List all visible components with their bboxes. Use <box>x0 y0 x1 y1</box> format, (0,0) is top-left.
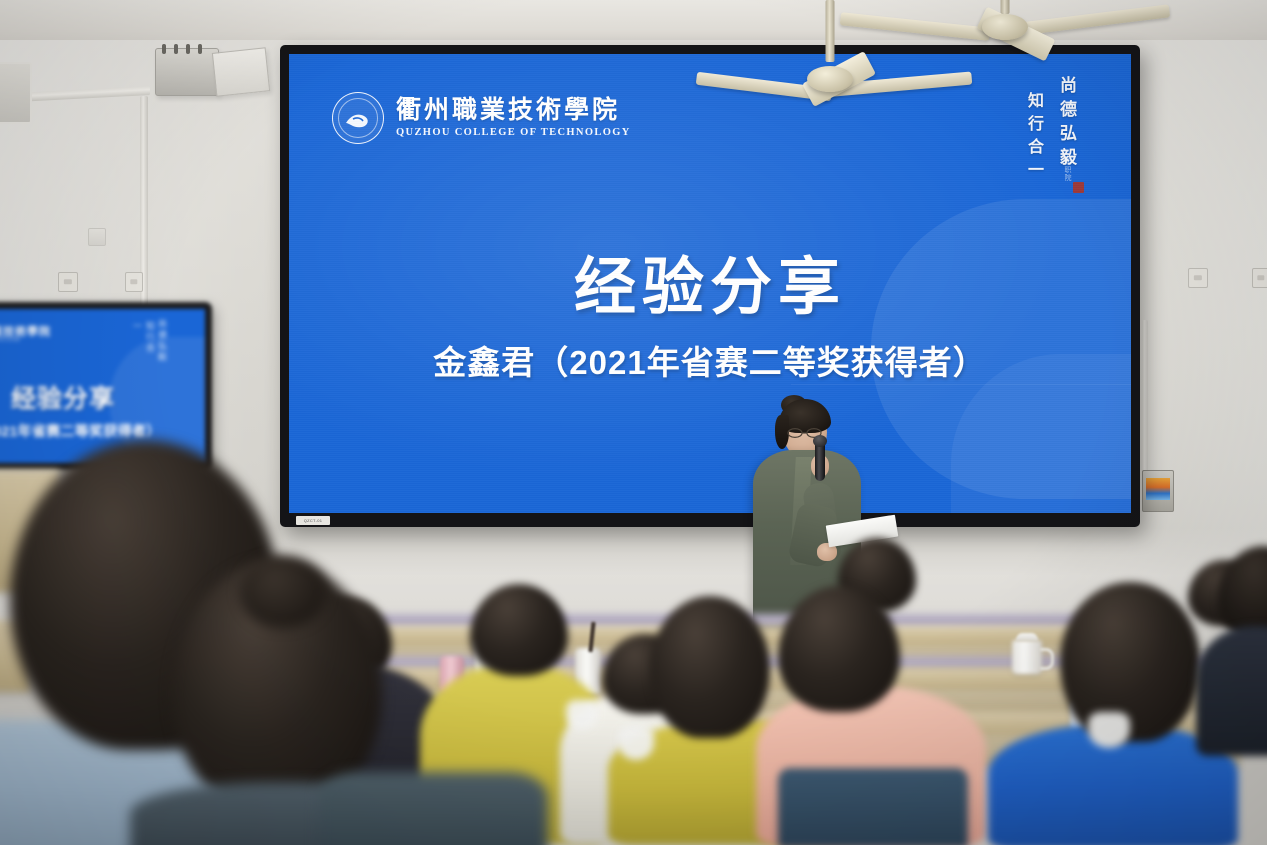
microphone-head-icon <box>813 435 827 447</box>
fan-rod <box>826 0 835 62</box>
secondary-monitor-screen: 州職業技術學院 QUZHOU COLLEGE 尚德弘毅 知行合一 经验分享 （2… <box>0 309 205 463</box>
fan-hub <box>982 14 1028 40</box>
university-name-cn: 衢州職業技術學院 <box>396 98 631 123</box>
fan-hub <box>807 66 853 92</box>
mug-lid-icon <box>1016 633 1038 641</box>
secondary-motto-col-1: 尚德弘毅 <box>156 319 169 365</box>
conduit-pipe-right <box>1142 320 1148 480</box>
wall-vent <box>0 62 32 124</box>
motto-signature: 衢职院 <box>1055 158 1073 182</box>
secondary-slide-title: 经验分享 <box>11 379 115 415</box>
mug[interactable] <box>1012 640 1042 674</box>
university-logo: 衢州職業技術學院 QUZHOU COLLEGE OF TECHNOLOGY <box>332 92 631 144</box>
slide-subtitle: 金鑫君（2021年省赛二等奖获得者） <box>289 336 1131 384</box>
wall-outlet-left-a[interactable] <box>58 272 78 292</box>
motto-seal-icon <box>1073 182 1084 193</box>
display-corner-label: QZCT-01 <box>296 516 330 525</box>
university-name-en: QUZHOU COLLEGE OF TECHNOLOGY <box>396 128 631 139</box>
shoulder-bag <box>778 768 968 845</box>
ceiling-speaker <box>155 48 219 96</box>
secondary-motto-col-2: 知行合一 <box>131 321 157 363</box>
main-display[interactable]: 衢州職業技術學院 QUZHOU COLLEGE OF TECHNOLOGY 尚德… <box>280 45 1140 527</box>
university-emblem-icon <box>332 92 384 144</box>
wall-outlet-left-b[interactable] <box>125 272 143 292</box>
wall-outlet-right-a[interactable] <box>1188 268 1208 288</box>
audience-head <box>1060 582 1200 742</box>
face-mask <box>1088 712 1130 748</box>
presenter-glasses-icon <box>787 425 823 435</box>
secondary-slide-subtitle: （2021年省赛二等奖获得者） <box>0 421 161 441</box>
mug-handle-icon <box>1040 648 1054 670</box>
wall-control-box-right[interactable] <box>1142 470 1174 512</box>
ceiling-fan-right <box>860 0 1150 64</box>
hair-bun <box>240 556 326 628</box>
secondary-logo-subtext: QUZHOU COLLEGE <box>0 337 21 343</box>
lecture-hall-scene: 州職業技術學院 QUZHOU COLLEGE 尚德弘毅 知行合一 经验分享 （2… <box>0 0 1267 845</box>
fan-rod <box>1001 0 1010 14</box>
wall-outlet-right-b[interactable] <box>1252 268 1267 288</box>
audience-head <box>650 596 770 738</box>
slide-title: 经验分享 <box>289 236 1131 326</box>
wave-icon <box>344 110 372 130</box>
wall-junction-box-left <box>88 228 106 246</box>
wall-panel <box>212 47 270 96</box>
presentation-slide: 衢州職業技術學院 QUZHOU COLLEGE OF TECHNOLOGY 尚德… <box>289 54 1131 513</box>
motto-column-2: 知行合一 <box>1021 92 1045 184</box>
fan-blade <box>840 12 991 41</box>
face-mask <box>618 726 654 760</box>
control-box-label <box>1146 478 1170 500</box>
audience-body-foreground <box>318 772 548 845</box>
face-mask <box>566 700 598 730</box>
